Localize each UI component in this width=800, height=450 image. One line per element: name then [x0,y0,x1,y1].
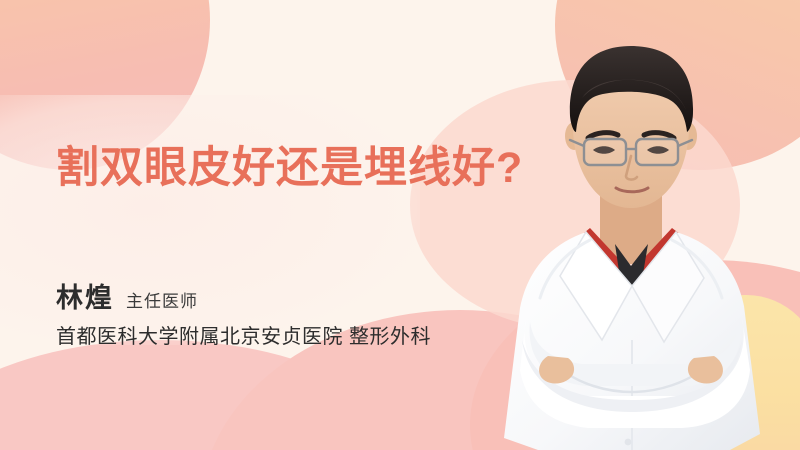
doctor-name: 林煌 [56,283,114,314]
doctor-info-block: 林煌 主任医师 首都医科大学附属北京安贞医院 整形外科 [56,283,431,349]
doctor-affiliation: 首都医科大学附属北京安贞医院 整形外科 [56,326,431,349]
doctor-name-row: 林煌 主任医师 [56,283,431,314]
decor-blob-bottom-left [0,340,440,450]
doctor-intro-card: 割双眼皮好还是埋线好? 林煌 主任医师 首都医科大学附属北京安贞医院 整形外科 [0,0,800,450]
doctor-portrait-icon [482,40,782,450]
doctor-title: 主任医师 [126,292,198,312]
page-title: 割双眼皮好还是埋线好? [56,145,523,192]
